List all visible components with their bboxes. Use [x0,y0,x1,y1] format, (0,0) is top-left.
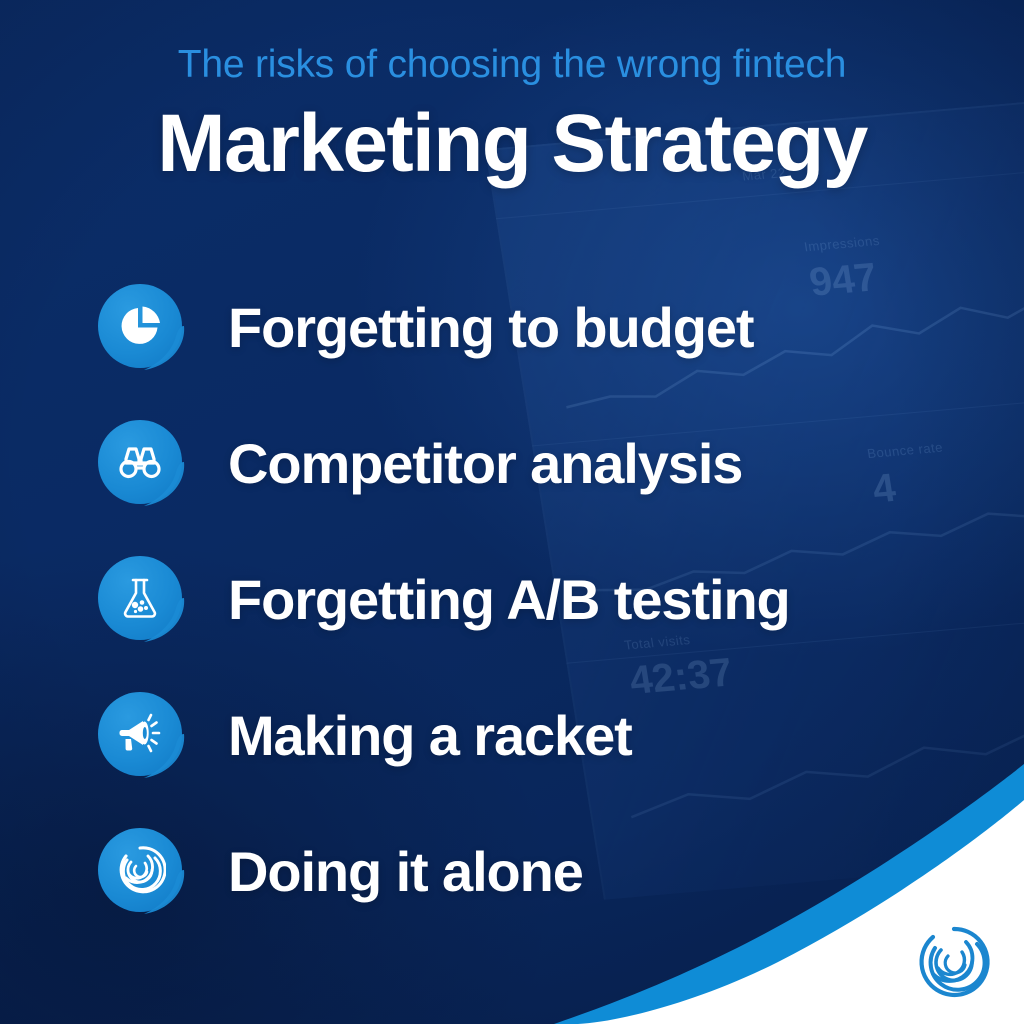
list-item-label: Forgetting to budget [228,300,753,356]
icon-badge [96,418,188,510]
list-item-label: Forgetting A/B testing [228,572,790,628]
brand-logo [916,924,992,1000]
pie-chart-icon [98,284,182,368]
poster-header: The risks of choosing the wrong fintech … [0,44,1024,187]
list-item-label: Competitor analysis [228,436,742,492]
list-item-label: Doing it alone [228,844,583,900]
megaphone-icon [98,692,182,776]
icon-badge [96,826,188,918]
icon-badge [96,690,188,782]
icon-badge [96,554,188,646]
binoculars-icon [98,420,182,504]
poster-canvas: Mar 22 Impressions 947 Bounce rate 4 Tot… [0,0,1024,1024]
eyebrow-text: The risks of choosing the wrong fintech [0,44,1024,87]
list-item-label: Making a racket [228,708,632,764]
spiral-icon [98,828,182,912]
list-item: Competitor analysis [96,418,964,510]
list-item: Forgetting to budget [96,282,964,374]
page-title: Marketing Strategy [0,101,1024,187]
icon-badge [96,282,188,374]
flask-icon [98,556,182,640]
list-item: Forgetting A/B testing [96,554,964,646]
